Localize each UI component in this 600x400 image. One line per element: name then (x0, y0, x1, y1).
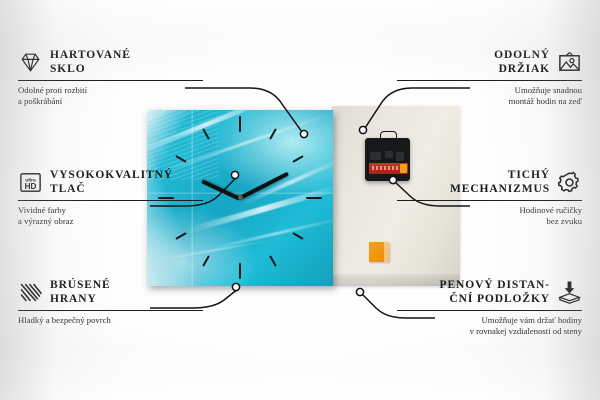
feature-title-line1: VYSOKOKVALITNÝ (50, 168, 173, 182)
feature-title-line1: BRÚSENÉ (50, 278, 111, 292)
feature-silent-mechanism: TICHÝ MECHANIZMUS Hodinové ručičky bez z… (407, 168, 582, 226)
connector-node-hardened-glass (300, 130, 307, 137)
connector-node-edges (232, 283, 239, 290)
hatch-lines-icon (18, 280, 43, 305)
feature-desc-line1: Umožňuje snadnou (407, 85, 582, 96)
feature-high-quality-print: ultra HD VYSOKOKVALITNÝ TLAČ Vividné far… (18, 168, 193, 226)
feature-title-line2: ČNÍ PODLOŽKY (440, 292, 550, 306)
feature-ground-edges: BRÚSENÉ HRANY Hladký a bezpečný povrch (18, 278, 193, 326)
ultra-hd-icon: ultra HD (18, 170, 43, 195)
feature-title-line2: DRŽIAK (494, 62, 550, 76)
product-infographic: HARTOVANÉ SKLO Odolné proti rozbití a po… (0, 0, 600, 400)
hd-badge-bottom: HD (25, 181, 37, 190)
feature-desc-line2: a poškrábání (18, 96, 193, 107)
feature-desc-line2: a výrazný obraz (18, 216, 193, 227)
divider (18, 80, 203, 81)
feature-desc-line1: Vividné farby (18, 205, 193, 216)
feature-title-line1: ODOLNÝ (494, 48, 550, 62)
feature-desc-line1: Hladký a bezpečný povrch (18, 315, 193, 326)
feature-desc-line1: Odolné proti rozbití (18, 85, 193, 96)
feature-title-line2: TLAČ (50, 182, 173, 196)
divider (397, 200, 582, 201)
divider (18, 200, 203, 201)
feature-desc-line1: Hodinové ručičky (407, 205, 582, 216)
diamond-icon (18, 50, 43, 75)
divider (397, 310, 582, 311)
feature-title-line1: PENOVÝ DISTAN- (440, 278, 550, 292)
feature-desc-line2: bez zvuku (407, 216, 582, 227)
feature-title-line2: HRANY (50, 292, 111, 306)
feature-desc-line2: montáž hodin na zeď (407, 96, 582, 107)
feature-hardened-glass: HARTOVANÉ SKLO Odolné proti rozbití a po… (18, 48, 193, 106)
connector-node-print (231, 171, 238, 178)
stacked-pads-arrow-icon (557, 280, 582, 305)
feature-foam-spacers: PENOVÝ DISTAN- ČNÍ PODLOŽKY Umožňuje vám… (407, 278, 582, 336)
feature-title-line2: SKLO (50, 62, 131, 76)
feature-durable-hanger: ODOLNÝ DRŽIAK Umožňuje snadnou montáž ho… (407, 48, 582, 106)
feature-title-line1: TICHÝ (450, 168, 550, 182)
picture-frame-icon (557, 50, 582, 75)
divider (397, 80, 582, 81)
feature-title-line2: MECHANIZMUS (450, 182, 550, 196)
connector-hardened-glass (185, 88, 302, 132)
divider (18, 310, 203, 311)
feature-desc-line2: v rovnakej vzdialenosti od steny (407, 326, 582, 337)
connector-node-mechanism (389, 176, 396, 183)
feature-desc-line1: Umožňuje vám držať hodiny (407, 315, 582, 326)
feature-title-line1: HARTOVANÉ (50, 48, 131, 62)
connector-node-hanger (359, 126, 366, 133)
gear-icon (557, 170, 582, 195)
connector-node-foam (356, 288, 363, 295)
